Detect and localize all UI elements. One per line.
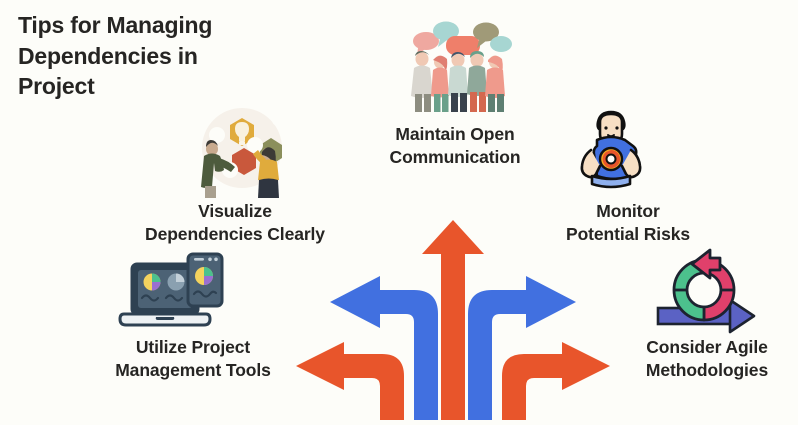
infographic-canvas: Tips for Managing Dependencies in Projec… — [0, 0, 798, 420]
tip-label-communication-line-2: Communication — [345, 146, 565, 169]
tip-label-agile-line-2: Methodologies — [612, 359, 798, 382]
page-title-line-3: Project — [18, 71, 318, 102]
tip-label-agile-line-1: Consider Agile — [612, 336, 798, 359]
tip-label-monitor-line-2: Potential Risks — [528, 223, 728, 246]
five-way-arrow-diagram — [278, 216, 628, 420]
lower-right-arrow — [502, 342, 610, 420]
tip-label-visualize-line-1: Visualize — [110, 200, 360, 223]
tip-label-monitor: Monitor Potential Risks — [528, 200, 728, 246]
strong-person-badge-icon — [567, 104, 655, 194]
tip-label-tools-line-1: Utilize Project — [78, 336, 308, 359]
people-hexagons-lightbulb-icon — [186, 102, 298, 198]
tip-label-tools: Utilize Project Management Tools — [78, 336, 308, 382]
tip-label-communication: Maintain Open Communication — [345, 123, 565, 169]
tip-label-communication-line-1: Maintain Open — [345, 123, 565, 146]
page-title: Tips for Managing Dependencies in Projec… — [18, 10, 318, 102]
lower-left-arrow — [296, 342, 404, 420]
page-title-line-2: Dependencies in — [18, 41, 318, 72]
tip-label-visualize: Visualize Dependencies Clearly — [110, 200, 360, 246]
people-speech-bubbles-icon — [398, 8, 516, 116]
page-title-line-1: Tips for Managing — [18, 10, 318, 41]
tip-label-tools-line-2: Management Tools — [78, 359, 308, 382]
laptop-dashboard-charts-icon — [116, 250, 230, 336]
tip-label-agile: Consider Agile Methodologies — [612, 336, 798, 382]
tip-label-visualize-line-2: Dependencies Clearly — [110, 223, 360, 246]
tip-label-monitor-line-1: Monitor — [528, 200, 728, 223]
agile-cycle-arrow-icon — [652, 248, 768, 340]
